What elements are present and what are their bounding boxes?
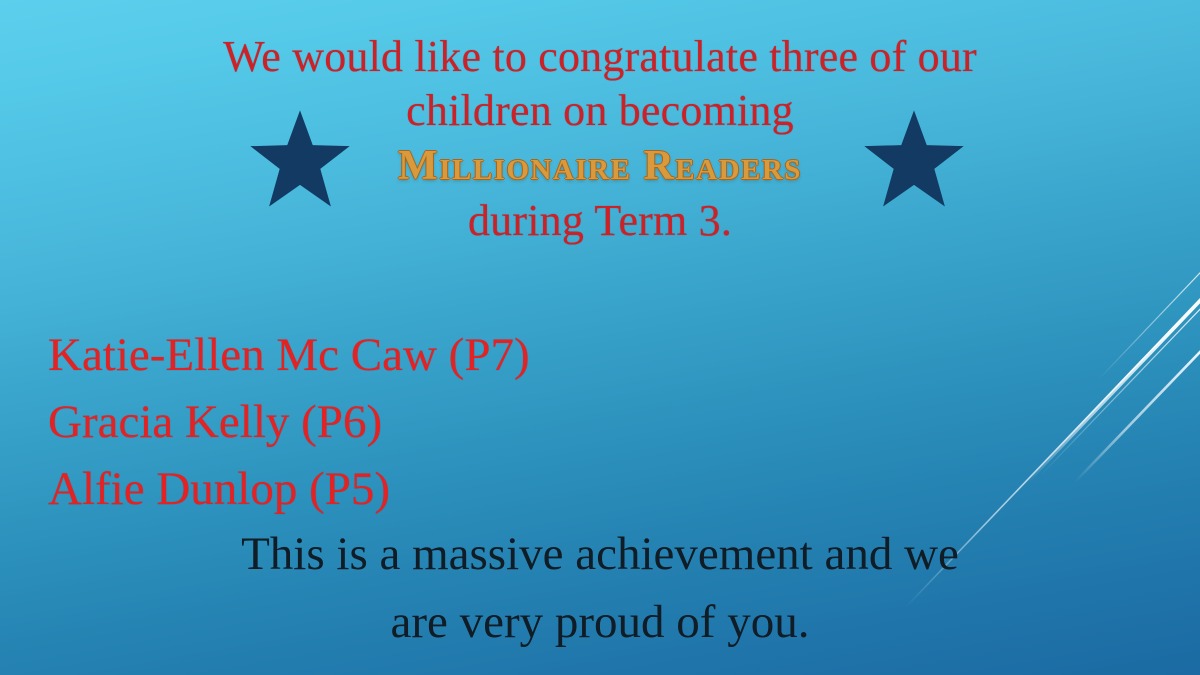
closing-line-1: This is a massive achievement and we [0,520,1200,588]
streak-line-3 [1040,230,1200,476]
headline-line-2: children on becoming [0,84,1200,138]
streak-line-4 [1075,248,1200,482]
headline-line-1: We would like to congratulate three of o… [0,30,1200,84]
list-item: Alfie Dunlop (P5) [48,456,530,523]
list-item: Gracia Kelly (P6) [48,389,530,456]
headline-block: We would like to congratulate three of o… [0,30,1200,248]
names-list: Katie-Ellen Mc Caw (P7) Gracia Kelly (P6… [48,322,530,523]
list-item: Katie-Ellen Mc Caw (P7) [48,322,530,389]
closing-line-2: are very proud of you. [0,588,1200,656]
streak-line-2 [1028,226,1200,482]
presentation-slide: We would like to congratulate three of o… [0,0,1200,675]
millionaire-readers-emphasis: Millionaire Readers [0,138,1200,194]
closing-message: This is a massive achievement and we are… [0,520,1200,656]
headline-line-4: during Term 3. [0,194,1200,248]
